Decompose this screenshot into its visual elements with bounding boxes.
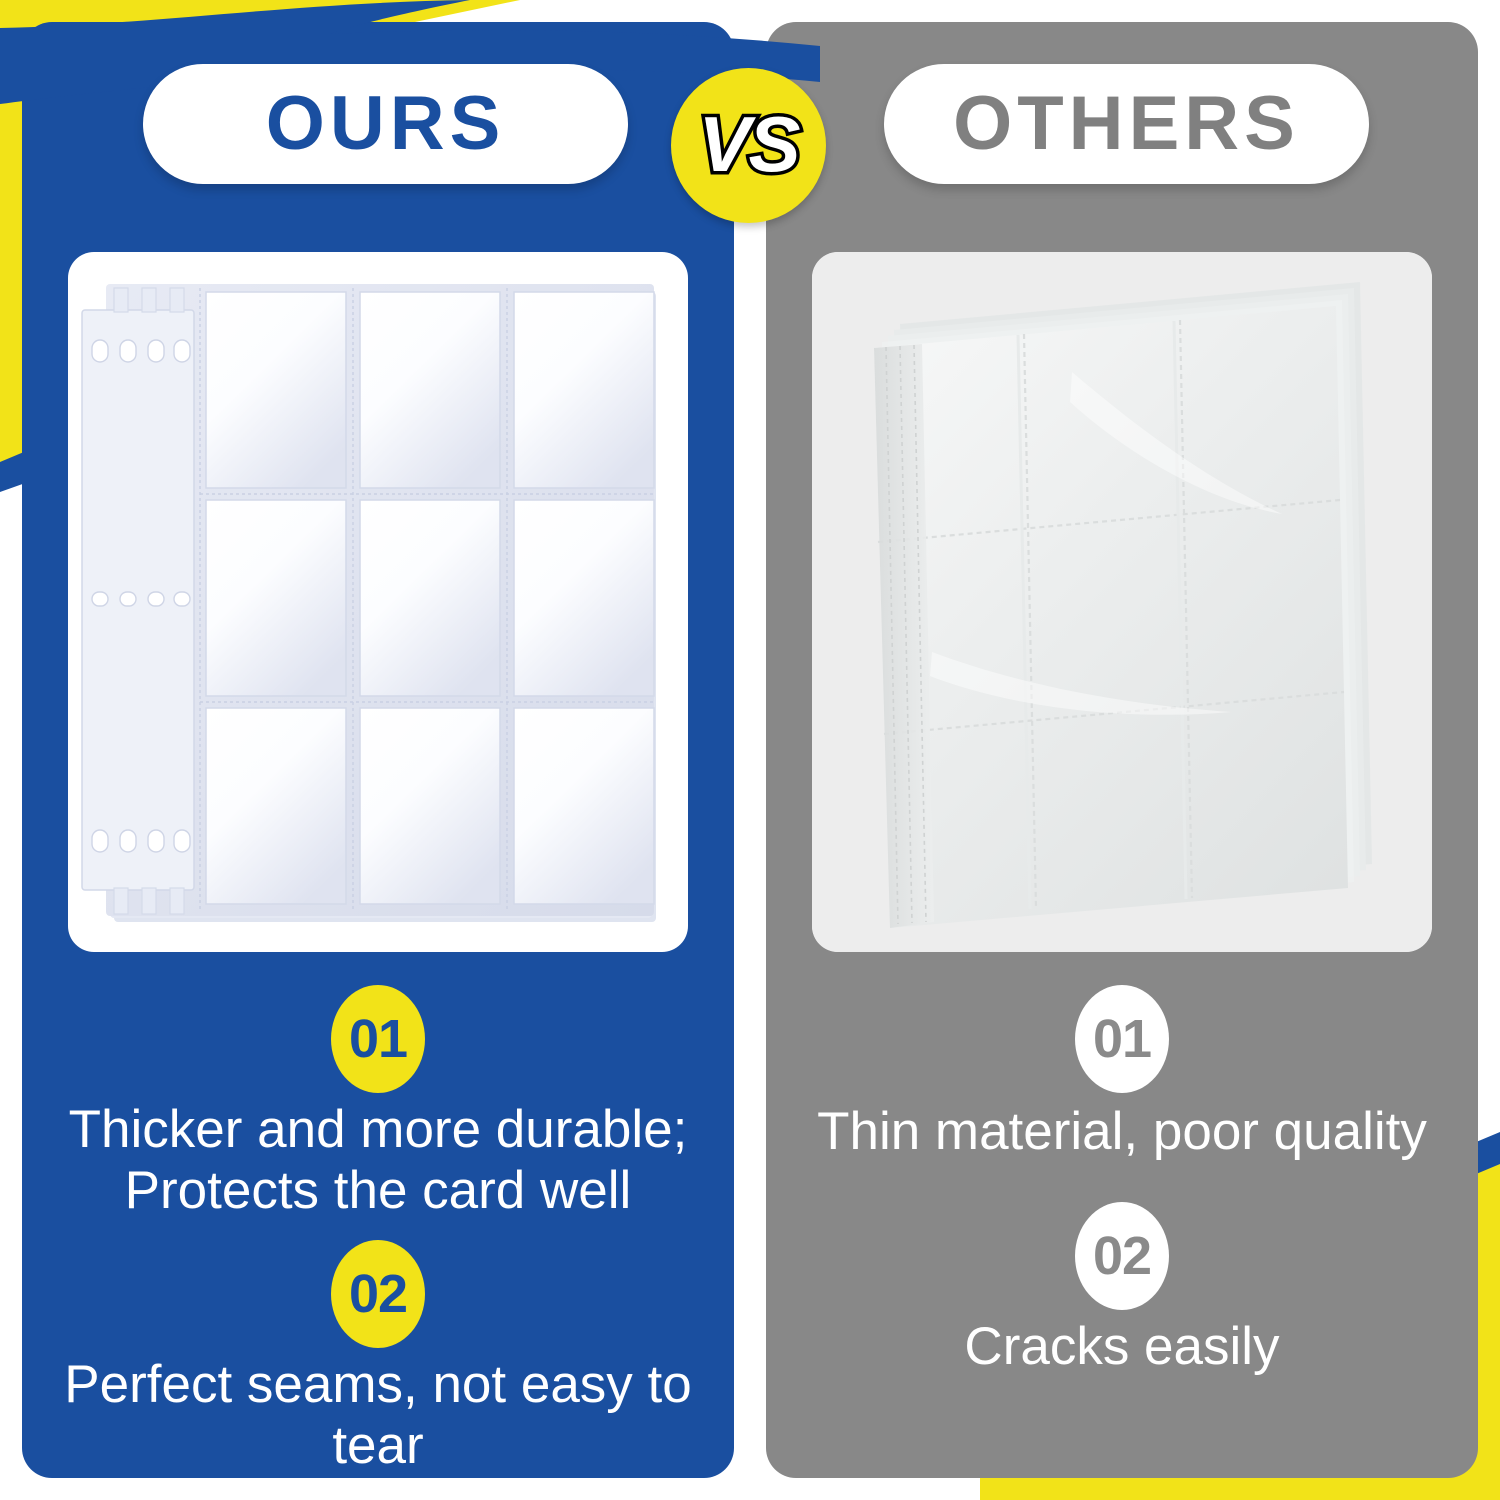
others-feature-1-badge: 01 [1075,985,1169,1093]
ours-product-image-frame [68,252,688,952]
ours-feature-2: 02 Perfect seams, not easy to tear [22,1240,734,1477]
others-product-image-frame [812,252,1432,952]
others-feature-2-text: Cracks easily [946,1310,1297,1377]
ours-feature-1-text: Thicker and more durable; Protects the c… [33,1093,723,1222]
thin-sleeve-stack-image [812,252,1432,952]
others-header-label: OTHERS [953,86,1300,162]
ours-header-pill: OURS [143,64,628,184]
ours-feature-2-text: Perfect seams, not easy to tear [33,1348,723,1477]
others-feature-1: 01 Thin material, poor quality [766,985,1478,1162]
vs-badge-label: VS [698,105,798,183]
others-header-pill: OTHERS [884,64,1369,184]
vs-badge: VS [671,68,826,223]
ours-feature-list: 01 Thicker and more durable; Protects th… [22,985,734,1477]
others-feature-2: 02 Cracks easily [766,1202,1478,1377]
nine-pocket-binder-page-image [68,252,688,952]
ours-feature-1: 01 Thicker and more durable; Protects th… [22,985,734,1222]
others-feature-1-text: Thin material, poor quality [799,1095,1445,1162]
others-feature-2-badge: 02 [1075,1202,1169,1310]
ours-header-label: OURS [266,86,506,162]
others-feature-list: 01 Thin material, poor quality 02 Cracks… [766,985,1478,1378]
ours-feature-1-badge: 01 [331,985,425,1093]
ours-feature-2-badge: 02 [331,1240,425,1348]
